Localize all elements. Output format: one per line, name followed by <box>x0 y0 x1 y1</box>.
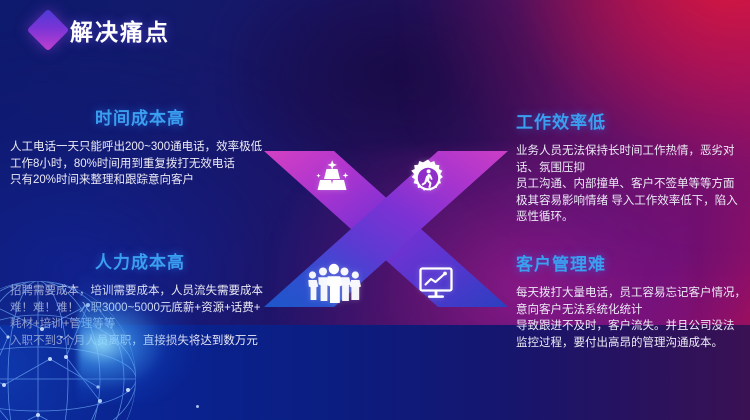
panel-heading-work-efficiency: 工作效率低 <box>508 108 750 133</box>
panel-heading-customer-management: 客户管理难 <box>508 250 750 275</box>
panel-line: 意向客户无法系统化统计 <box>516 302 750 319</box>
decorative-dot <box>60 336 63 339</box>
people-group-icon <box>306 262 362 304</box>
diamond-icon <box>27 9 69 51</box>
panel-heading-time-cost: 时间成本高 <box>10 104 282 129</box>
gold-bars-icon <box>312 158 352 194</box>
panel-body-work-efficiency: 业务人员无法保持长时间工作热情，恶劣对 话、氛围压抑 员工沟通、内部撞单、客户不… <box>508 143 750 226</box>
panel-line: 恶性循环。 <box>516 209 750 226</box>
panel-customer-management: 客户管理难 每天拨打大量电话，员工容易忘记客户情况， 意向客户无法系统化统计 导… <box>508 250 750 351</box>
slide-header: 解决痛点 <box>0 0 750 60</box>
globe-glow <box>78 272 198 402</box>
panel-body-time-cost: 人工电话一天只能呼出200~300通电话，效率极低 工作8小时，80%时间用到重… <box>10 139 282 189</box>
x-shape-graphic <box>258 145 514 313</box>
panel-line: 员工沟通、内部撞单、客户不签单等等方面 <box>516 176 750 193</box>
panel-heading-labor-cost: 人力成本高 <box>10 248 282 273</box>
panel-body-customer-management: 每天拨打大量电话，员工容易忘记客户情况， 意向客户无法系统化统计 导致跟进不及时… <box>508 285 750 351</box>
decorative-dot <box>196 405 199 408</box>
gear-person-icon <box>408 158 448 198</box>
panel-line: 导致跟进不及时，客户流失。并且公司没法 <box>516 318 750 335</box>
panel-line: 监控过程，要付出高昂的管理沟通成本。 <box>516 335 750 352</box>
panel-work-efficiency: 工作效率低 业务人员无法保持长时间工作热情，恶劣对 话、氛围压抑 员工沟通、内部… <box>508 108 750 226</box>
decorative-dot <box>126 388 130 392</box>
panel-line: 只有20%时间来整理和跟踪意向客户 <box>10 172 282 189</box>
panel-line: 人工电话一天只能呼出200~300通电话，效率极低 <box>10 139 282 156</box>
panel-line: 极其容易影响情绪 导入工作效率低下，陷入 <box>516 193 750 210</box>
panel-line: 每天拨打大量电话，员工容易忘记客户情况， <box>516 285 750 302</box>
page-title: 解决痛点 <box>70 13 170 47</box>
panel-time-cost: 时间成本高 人工电话一天只能呼出200~300通电话，效率极低 工作8小时，80… <box>10 104 282 189</box>
monitor-chart-icon <box>418 266 454 300</box>
slide-canvas: 解决痛点 <box>0 0 750 420</box>
panel-line: 工作8小时，80%时间用到重复拨打无效电话 <box>10 156 282 173</box>
panel-line: 话、氛围压抑 <box>516 160 750 177</box>
panel-line: 业务人员无法保持长时间工作热情，恶劣对 <box>516 143 750 160</box>
